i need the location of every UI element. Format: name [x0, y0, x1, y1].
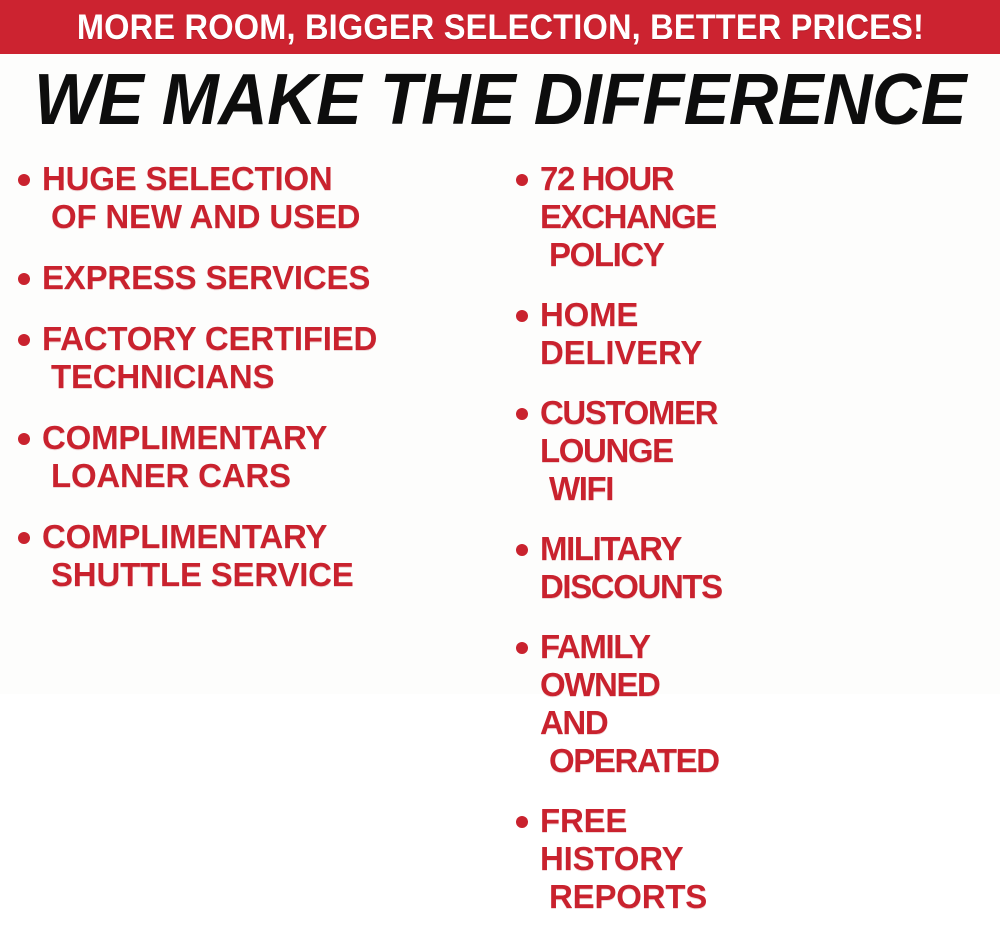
features-columns: HUGE SELECTION OF NEW AND USED EXPRESS S…: [0, 160, 1000, 694]
feature-line-2: REPORTS: [540, 878, 707, 916]
bullet-dot-icon: [516, 642, 528, 654]
feature-line-1: HOME DELIVERY: [540, 296, 702, 371]
advertisement-poster: MORE ROOM, BIGGER SELECTION, BETTER PRIC…: [0, 0, 1000, 694]
feature-text: 72 HOUR EXCHANGE POLICY: [540, 160, 716, 274]
feature-line-2: OPERATED: [540, 742, 719, 780]
bullet-dot-icon: [516, 544, 528, 556]
feature-line-1: 72 HOUR EXCHANGE: [540, 160, 716, 235]
bullet-dot-icon: [516, 310, 528, 322]
bullet-dot-icon: [516, 408, 528, 420]
banner-headline: MORE ROOM, BIGGER SELECTION, BETTER PRIC…: [76, 10, 923, 45]
feature-line-1: FREE HISTORY: [540, 802, 683, 877]
top-banner: MORE ROOM, BIGGER SELECTION, BETTER PRIC…: [0, 0, 1000, 54]
feature-line-2: POLICY: [540, 236, 716, 274]
feature-line-1: CUSTOMER LOUNGE: [540, 394, 717, 469]
feature-line-1: FAMILY OWNED AND: [540, 628, 660, 741]
features-column-right: 72 HOUR EXCHANGE POLICY HOME DELIVERY CU…: [0, 160, 518, 938]
bullet-dot-icon: [516, 174, 528, 186]
page-title: WE MAKE THE DIFFERENCE: [25, 62, 975, 138]
feature-line-2: WIFI: [540, 470, 717, 508]
feature-text: MILITARY DISCOUNTS: [540, 530, 722, 606]
feature-text: FREE HISTORY REPORTS: [540, 802, 707, 916]
feature-text: FAMILY OWNED AND OPERATED: [540, 628, 719, 780]
feature-line-1: MILITARY DISCOUNTS: [540, 530, 722, 605]
bullet-dot-icon: [516, 816, 528, 828]
feature-text: HOME DELIVERY: [540, 296, 702, 372]
feature-text: CUSTOMER LOUNGE WIFI: [540, 394, 717, 508]
